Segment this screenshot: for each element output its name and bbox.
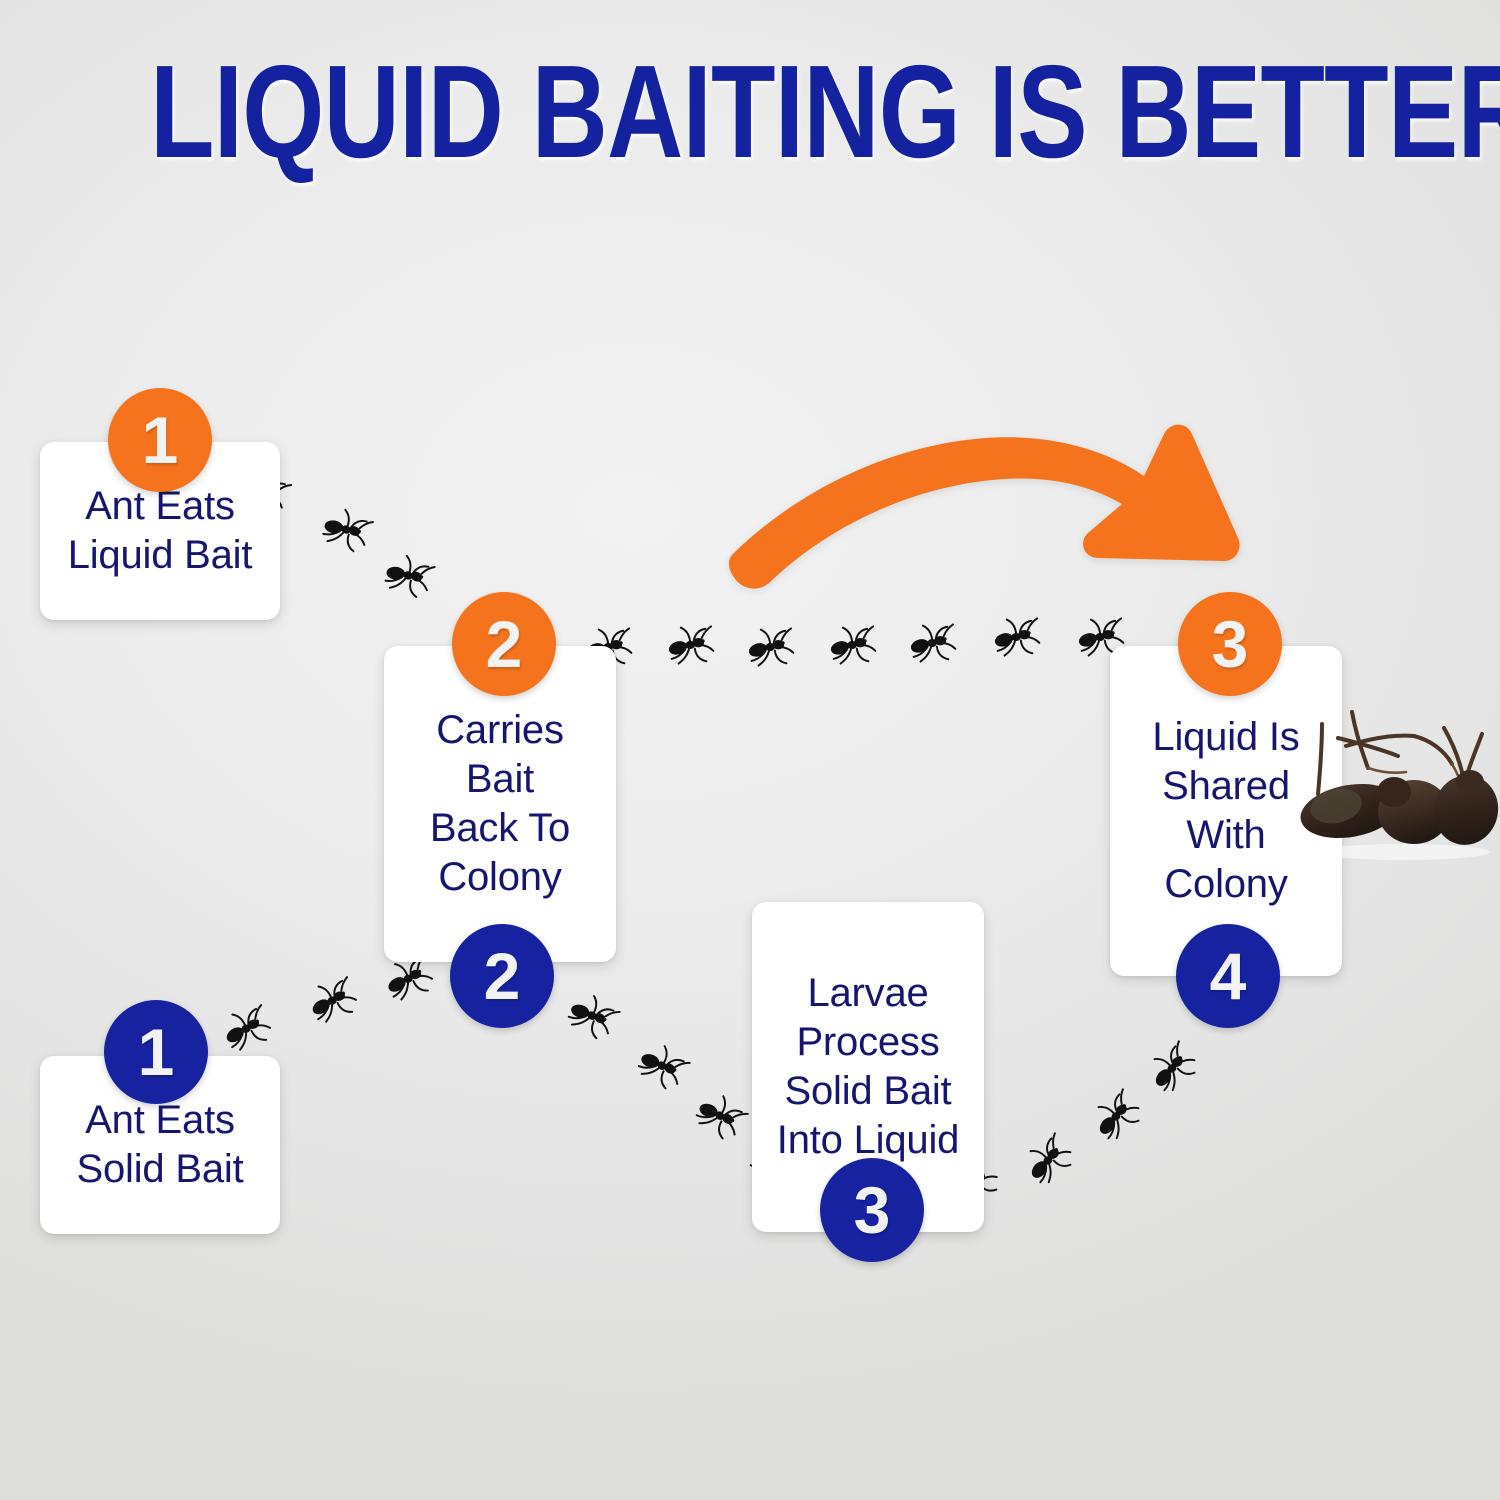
badge-solid-step-1-number: 1: [138, 1014, 175, 1090]
badge-solid-step-2: 2: [450, 924, 554, 1028]
ant-silhouette: [369, 537, 446, 614]
badge-liquid-step-1-number: 1: [142, 402, 179, 478]
badge-liquid-step-3: 3: [1178, 592, 1282, 696]
card-liquid-step-3-text: Liquid Is Shared With Colony: [1152, 713, 1299, 910]
card-solid-step-1-text: Ant Eats Solid Bait: [77, 1096, 244, 1194]
orange-curved-arrow: [726, 398, 1246, 598]
ant-silhouette: [902, 614, 960, 672]
ant-silhouette: [986, 608, 1044, 666]
badge-solid-step-1: 1: [104, 1000, 208, 1104]
badge-liquid-step-1: 1: [108, 388, 212, 492]
ant-silhouette: [678, 1074, 759, 1155]
ant-silhouette: [1075, 1077, 1156, 1158]
ant-silhouette: [660, 616, 718, 674]
ant-silhouette: [822, 616, 880, 674]
card-liquid-step-2-text: Carries Bait Back To Colony: [430, 706, 570, 903]
ant-silhouette: [1007, 1121, 1088, 1202]
badge-liquid-step-3-number: 3: [1212, 606, 1249, 682]
badge-solid-step-2-number: 2: [484, 938, 521, 1014]
badge-liquid-step-2-number: 2: [486, 606, 523, 682]
badge-solid-step-3: 3: [820, 1158, 924, 1262]
card-liquid-step-1-text: Ant Eats Liquid Bait: [68, 482, 253, 580]
infographic-canvas: LIQUID BAITING IS BETTER: [0, 0, 1500, 1500]
ant-silhouette: [551, 975, 632, 1056]
badge-liquid-step-2: 2: [452, 592, 556, 696]
page-title: LIQUID BAITING IS BETTER: [150, 46, 1350, 178]
card-solid-step-3-text: Larvae Process Solid Bait Into Liquid: [777, 969, 959, 1166]
badge-solid-step-4: 4: [1176, 924, 1280, 1028]
ant-silhouette: [209, 993, 281, 1065]
badge-solid-step-3-number: 3: [854, 1172, 891, 1248]
ant-silhouette: [295, 965, 367, 1037]
ant-silhouette: [306, 490, 384, 568]
ant-silhouette: [740, 618, 798, 676]
ant-silhouette: [620, 1024, 701, 1105]
ant-silhouette: [1131, 1029, 1212, 1110]
badge-solid-step-4-number: 4: [1210, 938, 1247, 1014]
real-ants-photo: [1294, 694, 1500, 870]
